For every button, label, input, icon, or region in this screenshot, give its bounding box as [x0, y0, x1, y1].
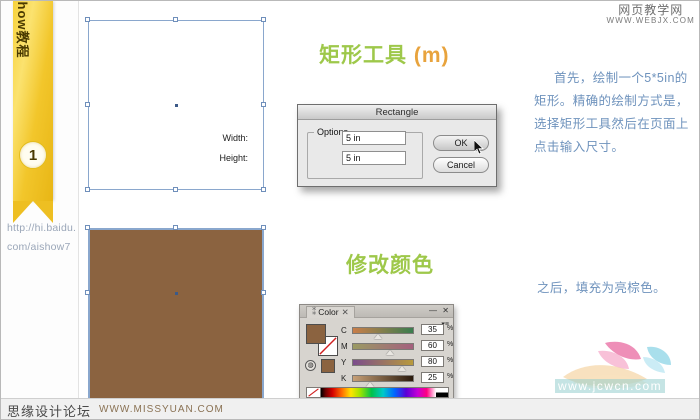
- channel-value-c[interactable]: 35: [421, 324, 444, 335]
- heading-rectangle-tool-text: 矩形工具: [319, 44, 414, 67]
- watermark-bottom-en: WWW.MISSYUAN.COM: [99, 404, 224, 415]
- panel-grip-icon: ⁑: [312, 307, 316, 317]
- brown-rectangle-fill: [88, 228, 264, 400]
- handle-middle-left[interactable]: [85, 290, 90, 295]
- panel-minimize-icon[interactable]: —: [429, 306, 437, 316]
- author-url[interactable]: http://hi.baidu.com/aishow7: [7, 219, 77, 257]
- watermark-bottom-bar: 思缘设计论坛 WWW.MISSYUAN.COM: [1, 398, 700, 419]
- watermark-bottom-cn: 思缘设计论坛: [7, 401, 91, 420]
- handle-top-left[interactable]: [85, 17, 90, 22]
- channel-label-m: M: [341, 342, 349, 351]
- channel-slider-y[interactable]: [352, 359, 414, 366]
- watermark-top-right-en: WWW.WEBJX.COM: [607, 17, 695, 25]
- handle-bottom-left[interactable]: [85, 187, 90, 192]
- shape-center-point: [175, 292, 178, 295]
- dialog-body: Options Width: Height: OK Cancel: [298, 120, 496, 187]
- panel-close-icon[interactable]: ✕: [442, 306, 449, 316]
- channel-unit-m: %: [447, 341, 453, 348]
- none-color-icon[interactable]: ◍: [305, 360, 316, 371]
- channel-unit-c: %: [447, 325, 453, 332]
- color-panel[interactable]: ⁑Color✕ — ✕ ▾≡ ◍ C 35 % M 60 %: [299, 304, 454, 400]
- channel-label-y: Y: [341, 358, 349, 367]
- channel-thumb-m[interactable]: [386, 350, 394, 355]
- handle-bottom-right[interactable]: [261, 187, 266, 192]
- tab-close-icon[interactable]: ✕: [342, 307, 349, 317]
- channel-value-m[interactable]: 60: [421, 340, 444, 351]
- cancel-button[interactable]: Cancel: [433, 157, 489, 173]
- ribbon-banner: AI-Show教程 1: [13, 1, 53, 201]
- color-panel-tabrow: ⁑Color✕ — ✕: [300, 305, 453, 318]
- handle-middle-right[interactable]: [261, 102, 266, 107]
- channel-slider-k[interactable]: [352, 375, 414, 382]
- channel-row-y: Y 80 %: [341, 356, 453, 371]
- handle-top-center[interactable]: [173, 225, 178, 230]
- heading-rectangle-tool-shortcut: (m): [414, 44, 450, 67]
- watermark-jcwcn-url: www.jcwcn.com: [555, 379, 665, 393]
- selection-edge-left: [88, 228, 90, 400]
- watermark-top-right-cn: 网页教学网: [607, 4, 695, 17]
- width-label: Width:: [222, 133, 248, 143]
- handle-top-center[interactable]: [173, 17, 178, 22]
- channel-row-c: C 35 %: [341, 324, 453, 339]
- heading-rectangle-tool: 矩形工具 (m): [319, 39, 450, 69]
- tab-color[interactable]: ⁑Color✕: [306, 306, 355, 318]
- height-label: Height:: [219, 153, 248, 163]
- last-color-swatch[interactable]: [321, 359, 335, 373]
- channel-label-c: C: [341, 326, 349, 335]
- handle-top-right[interactable]: [261, 225, 266, 230]
- mouse-cursor-icon: [474, 140, 485, 155]
- width-input[interactable]: [342, 131, 406, 145]
- description-step-2: 之后，填充为亮棕色。: [537, 277, 689, 300]
- channel-slider-c[interactable]: [352, 327, 414, 334]
- watermark-top-right: 网页教学网 WWW.WEBJX.COM: [607, 4, 695, 25]
- spectrum-gradient[interactable]: [321, 388, 436, 397]
- channel-slider-m[interactable]: [352, 343, 414, 350]
- channel-value-k[interactable]: 25: [421, 372, 444, 383]
- screenshot-canvas: AI-Show教程 1 http://hi.baidu.com/aishow7: [0, 0, 700, 420]
- channel-unit-k: %: [447, 373, 453, 380]
- color-spectrum-bar[interactable]: [306, 387, 449, 398]
- handle-middle-right[interactable]: [261, 290, 266, 295]
- left-sidebar: AI-Show教程 1 http://hi.baidu.com/aishow7: [1, 1, 79, 420]
- rectangle-dialog[interactable]: Rectangle Options Width: Height: OK Canc…: [297, 104, 497, 187]
- fill-swatch[interactable]: [306, 324, 326, 344]
- channel-row-k: K 25 %: [341, 372, 453, 387]
- ribbon-label: AI-Show教程: [14, 0, 33, 59]
- brown-rectangle-shape[interactable]: [88, 228, 264, 400]
- channel-label-k: K: [341, 374, 349, 383]
- channel-value-y[interactable]: 80: [421, 356, 444, 367]
- tab-color-label: Color: [318, 307, 338, 317]
- spectrum-none-slash-icon: [307, 388, 320, 397]
- handle-middle-left[interactable]: [85, 102, 90, 107]
- white-rectangle-shape[interactable]: [88, 20, 264, 190]
- selection-edge-right: [262, 228, 264, 400]
- channel-unit-y: %: [447, 357, 453, 364]
- height-input[interactable]: [342, 151, 406, 165]
- channel-thumb-y[interactable]: [398, 366, 406, 371]
- handle-bottom-center[interactable]: [173, 187, 178, 192]
- spectrum-white-black-swatch[interactable]: [436, 388, 448, 397]
- spectrum-none-swatch[interactable]: [307, 388, 321, 397]
- channel-thumb-c[interactable]: [374, 334, 382, 339]
- heading-modify-color: 修改颜色: [346, 249, 434, 279]
- handle-top-left[interactable]: [85, 225, 90, 230]
- handle-top-right[interactable]: [261, 17, 266, 22]
- shape-center-point: [175, 104, 178, 107]
- channel-row-m: M 60 %: [341, 340, 453, 355]
- dialog-titlebar: Rectangle: [298, 105, 496, 120]
- watermark-jcwcn: www.jcwcn.com: [543, 337, 693, 395]
- description-step-1: 首先，绘制一个5*5in的矩形。精确的绘制方式是，选择矩形工具然后在页面上点击输…: [534, 67, 690, 159]
- ribbon-step-badge: 1: [19, 141, 47, 169]
